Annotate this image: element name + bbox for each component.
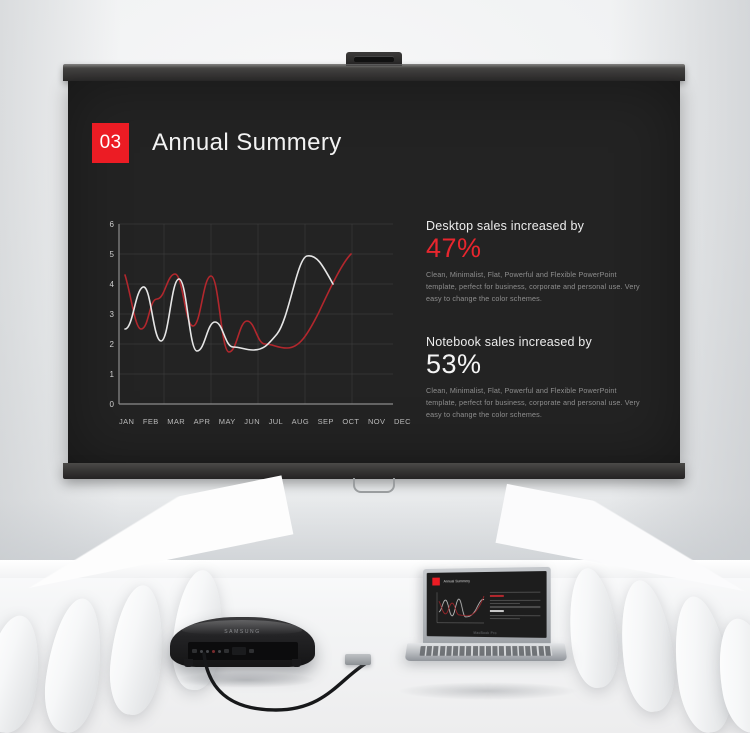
series-notebook-line <box>125 254 351 352</box>
chart-y-tick-labels: 6 5 4 3 2 1 0 <box>110 220 115 409</box>
x-label-aug: AUG <box>292 417 309 426</box>
mini-slide-title: Annual Summery <box>444 579 470 583</box>
mini-percent-notebook <box>490 610 504 612</box>
hdmi-adapter <box>345 654 371 665</box>
projection-screen: 03 Annual Summery <box>63 64 685 489</box>
stat-block-notebook: Notebook sales increased by 53% Clean, M… <box>426 335 648 420</box>
svg-text:0: 0 <box>110 400 115 409</box>
chart-svg: 6 5 4 3 2 1 0 <box>101 216 411 416</box>
laptop-screen[interactable]: Annual Summery <box>427 571 547 638</box>
mini-line-1 <box>490 592 540 593</box>
x-label-jun: JUN <box>244 417 260 426</box>
laptop-lid: Annual Summery <box>423 567 551 645</box>
x-label-dec: DEC <box>394 417 411 426</box>
chart-grid <box>119 224 393 404</box>
laptop-keyboard[interactable] <box>420 646 553 656</box>
mini-line-6 <box>490 618 520 619</box>
screen-canvas: 03 Annual Summery <box>68 81 680 463</box>
stat-percent-desktop: 47% <box>426 233 648 265</box>
screen-bottom-bar <box>63 463 685 479</box>
x-label-nov: NOV <box>368 417 385 426</box>
mini-line-5 <box>490 615 540 616</box>
svg-text:6: 6 <box>110 220 115 229</box>
laptop: Annual Summery <box>406 568 566 680</box>
mini-slide-number-badge <box>432 578 440 586</box>
x-label-oct: OCT <box>342 417 359 426</box>
stat-body-notebook: Clean, Minimalist, Flat, Powerful and Fl… <box>426 385 648 421</box>
stats-column: Desktop sales increased by 47% Clean, Mi… <box>426 219 648 421</box>
x-label-apr: APR <box>194 417 211 426</box>
series-desktop-line <box>125 256 333 351</box>
stat-heading-desktop: Desktop sales increased by <box>426 219 648 233</box>
svg-text:4: 4 <box>110 280 115 289</box>
chart-x-tick-labels: JAN FEB MAR APR MAY JUN JUL AUG SEP OCT … <box>119 417 411 426</box>
x-label-jan: JAN <box>119 417 134 426</box>
line-chart: 6 5 4 3 2 1 0 JAN FEB <box>101 216 411 431</box>
slide-number-badge: 03 <box>92 123 129 163</box>
hdmi-cable <box>198 648 428 720</box>
mini-line-4 <box>490 606 540 607</box>
x-label-sep: SEP <box>318 417 334 426</box>
svg-text:1: 1 <box>110 370 115 379</box>
x-label-may: MAY <box>219 417 236 426</box>
mini-chart <box>432 590 486 628</box>
mini-stats <box>490 590 540 629</box>
screen-top-bar <box>63 64 685 81</box>
mini-percent-desktop <box>490 595 504 597</box>
projector-foot-left <box>184 659 193 667</box>
stat-body-desktop: Clean, Minimalist, Flat, Powerful and Fl… <box>426 269 648 305</box>
port-vga-icon <box>192 649 197 653</box>
mini-slide-header: Annual Summery <box>432 576 540 585</box>
screen-pull-handle-icon[interactable] <box>353 478 395 493</box>
stat-percent-notebook: 53% <box>426 349 648 381</box>
projector-brand-label: SAMSUNG <box>170 629 315 635</box>
screen-wall-mount-icon <box>346 52 402 66</box>
presentation-slide: 03 Annual Summery <box>68 81 680 463</box>
x-label-feb: FEB <box>143 417 159 426</box>
svg-text:5: 5 <box>110 250 115 259</box>
x-label-jul: JUL <box>269 417 284 426</box>
conference-room-scene: 03 Annual Summery <box>0 0 750 733</box>
svg-text:2: 2 <box>110 340 115 349</box>
slide-title: Annual Summery <box>152 129 342 157</box>
stat-heading-notebook: Notebook sales increased by <box>426 335 648 349</box>
stat-block-desktop: Desktop sales increased by 47% Clean, Mi… <box>426 219 648 304</box>
mini-slide-body <box>432 590 540 629</box>
slide-header: 03 Annual Summery <box>92 123 342 163</box>
x-label-mar: MAR <box>167 417 185 426</box>
mini-line-3 <box>490 603 520 604</box>
mini-line-2 <box>490 600 540 601</box>
svg-text:3: 3 <box>110 310 115 319</box>
laptop-mirrored-slide: Annual Summery <box>427 571 547 638</box>
laptop-brand-label: MacBook Pro <box>427 629 547 638</box>
laptop-base <box>405 643 568 661</box>
